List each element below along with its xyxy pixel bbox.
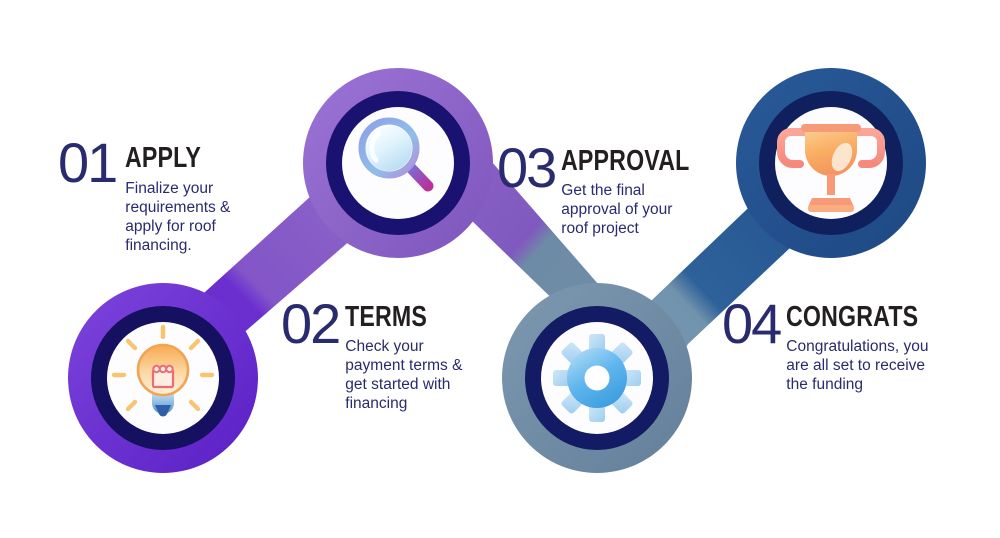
step-02-description: Check your payment terms & get started w… [345, 338, 495, 414]
node-layer [0, 0, 1000, 538]
step-01-description: Finalize your requirements & apply for r… [125, 180, 249, 256]
step-04-heading: CONGRATS [786, 303, 1000, 332]
node-step-01[interactable] [68, 283, 258, 473]
text-block-step-04: 04 CONGRATS Congratulations, you are all… [722, 300, 992, 395]
step-02-number: 02 [281, 300, 339, 347]
step-04-number: 04 [722, 300, 780, 347]
text-block-step-02: 02 TERMS Check your payment terms & get … [281, 300, 541, 414]
step-01-heading: APPLY [125, 144, 284, 173]
step-04-description: Congratulations, you are all set to rece… [786, 338, 971, 395]
text-block-step-03: 03 APPROVAL Get the final approval of yo… [497, 144, 747, 239]
step-03-heading: APPROVAL [561, 147, 767, 176]
gear-icon [553, 334, 641, 422]
step-03-number: 03 [497, 144, 555, 191]
step-03-description: Get the final approval of your roof proj… [561, 182, 706, 239]
text-block-step-01: 01 APPLY Finalize your requirements & ap… [58, 139, 308, 256]
step-01-number: 01 [58, 139, 116, 186]
step-02-heading: TERMS [345, 303, 537, 332]
infographic-canvas: 01 APPLY Finalize your requirements & ap… [0, 0, 1000, 538]
node-step-02[interactable] [303, 68, 493, 258]
